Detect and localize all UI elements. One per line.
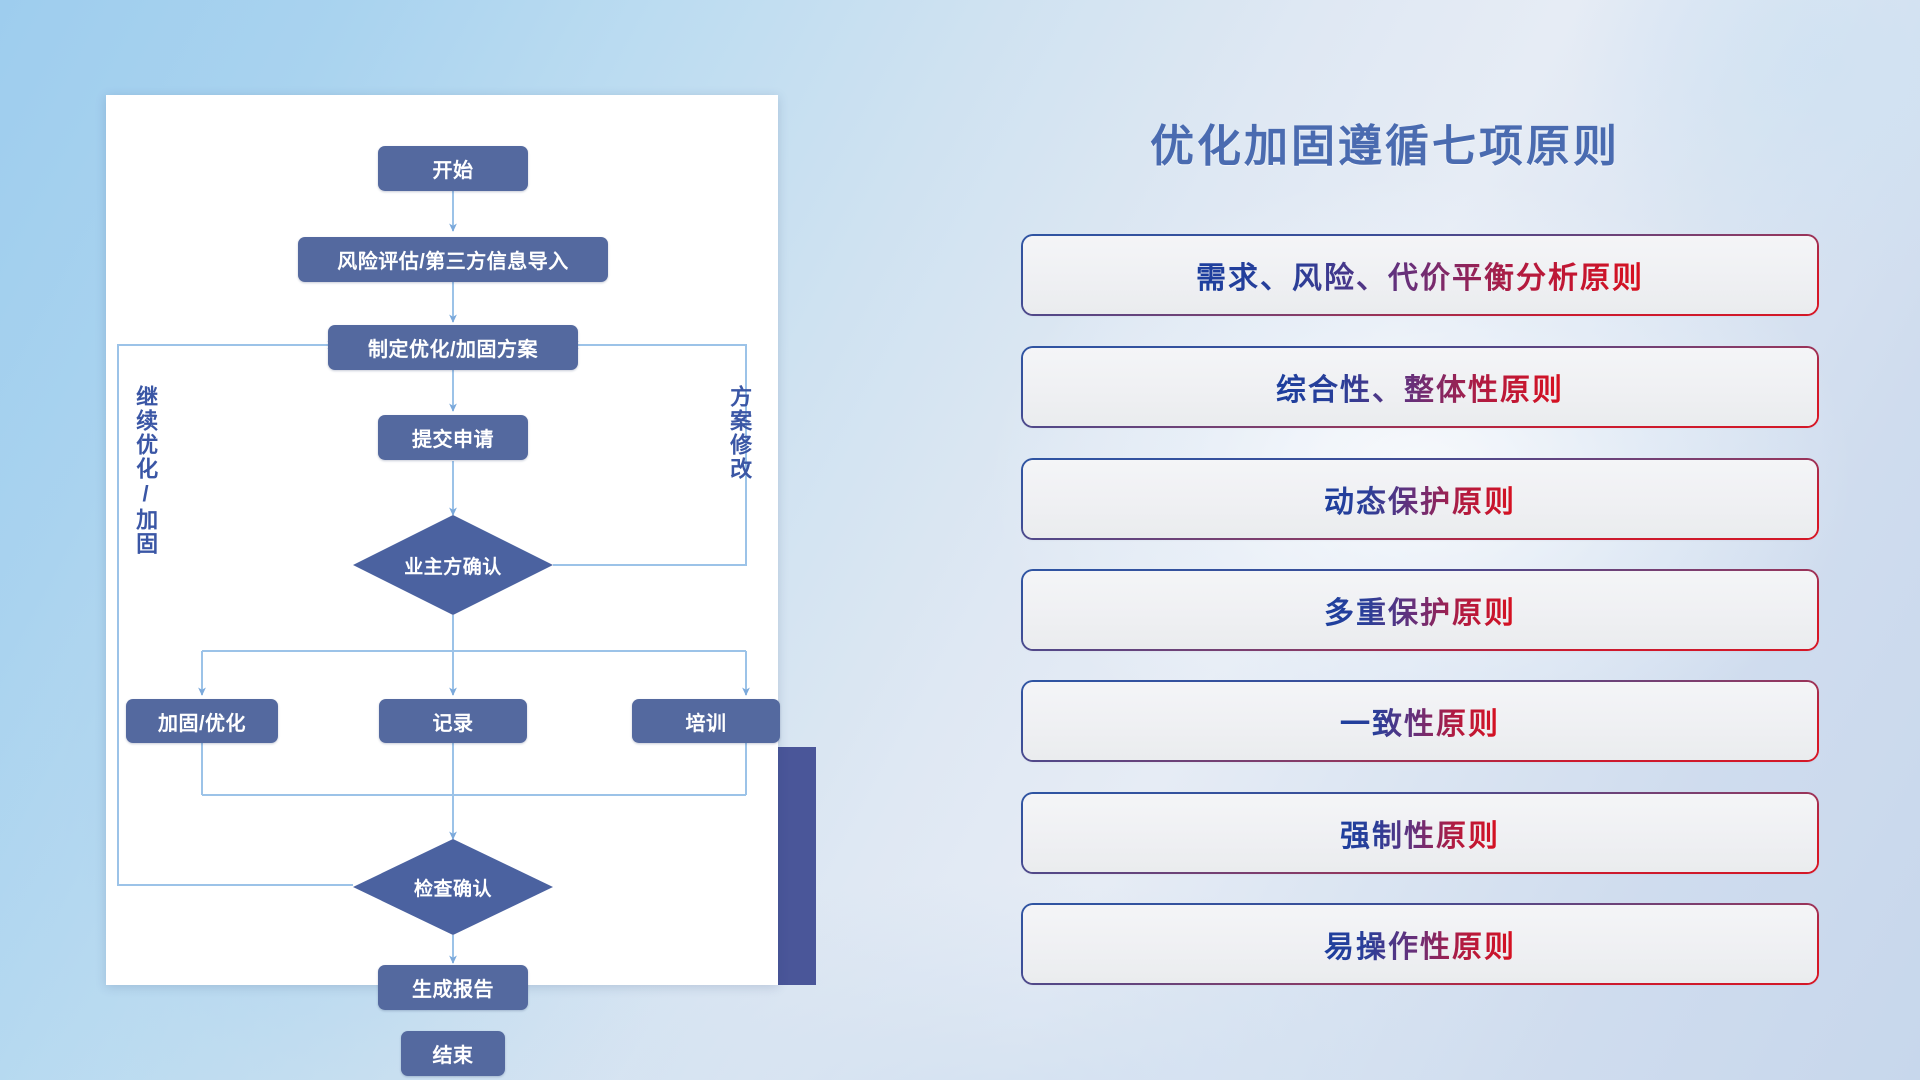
principle-item-1[interactable]: 需求、风险、代价平衡分析原则 [1023,236,1817,314]
flowchart: 开始 风险评估/第三方信息导入 制定优化/加固方案 提交申请 业主方确认 加固/… [106,95,778,985]
flow-label-continue-optimize: 继续优化/加固 [134,385,157,556]
principles-panel: 优化加固遵循七项原则 需求、风险、代价平衡分析原则 综合性、整体性原则 动态保护… [1020,70,1860,1030]
flow-node-risk-assessment[interactable]: 风险评估/第三方信息导入 [298,237,608,282]
flow-node-record[interactable]: 记录 [379,699,527,743]
principle-item-6[interactable]: 强制性原则 [1023,794,1817,872]
principle-item-4[interactable]: 多重保护原则 [1023,571,1817,649]
principle-label: 强制性原则 [1340,811,1500,855]
flow-node-generate-report[interactable]: 生成报告 [378,965,528,1010]
panel-title: 优化加固遵循七项原则 [1150,110,1620,174]
flow-node-label: 提交申请 [412,423,494,452]
principle-label: 综合性、整体性原则 [1276,365,1564,409]
flow-node-label: 结束 [433,1039,474,1068]
principle-item-2[interactable]: 综合性、整体性原则 [1023,348,1817,426]
flow-node-start[interactable]: 开始 [378,146,528,191]
flow-node-label: 业主方确认 [404,552,502,579]
flow-node-label: 风险评估/第三方信息导入 [337,245,569,274]
flow-node-inspection-confirm[interactable]: 检查确认 [353,839,553,935]
flow-node-label: 记录 [433,707,474,736]
flow-node-end[interactable]: 结束 [401,1031,505,1076]
principle-item-7[interactable]: 易操作性原则 [1023,905,1817,983]
principle-label: 易操作性原则 [1324,922,1516,966]
flow-node-submit-application[interactable]: 提交申请 [378,415,528,460]
flow-node-label: 检查确认 [414,874,492,901]
principle-label: 动态保护原则 [1324,477,1516,521]
flow-node-owner-confirm[interactable]: 业主方确认 [353,515,553,615]
principle-label: 多重保护原则 [1324,588,1516,632]
flow-node-label: 生成报告 [412,973,494,1002]
flow-node-training[interactable]: 培训 [632,699,780,743]
flow-node-label: 加固/优化 [158,707,246,736]
flowchart-card: 开始 风险评估/第三方信息导入 制定优化/加固方案 提交申请 业主方确认 加固/… [106,95,778,985]
flow-node-reinforce-optimize[interactable]: 加固/优化 [126,699,278,743]
flow-node-label: 制定优化/加固方案 [368,333,538,362]
principle-item-3[interactable]: 动态保护原则 [1023,460,1817,538]
principle-label: 需求、风险、代价平衡分析原则 [1196,253,1644,297]
flow-node-label: 培训 [686,707,727,736]
principle-item-5[interactable]: 一致性原则 [1023,682,1817,760]
flow-node-make-plan[interactable]: 制定优化/加固方案 [328,325,578,370]
flow-node-label: 开始 [433,154,474,183]
flow-label-plan-revision: 方案修改 [728,385,751,481]
principle-label: 一致性原则 [1340,699,1500,743]
